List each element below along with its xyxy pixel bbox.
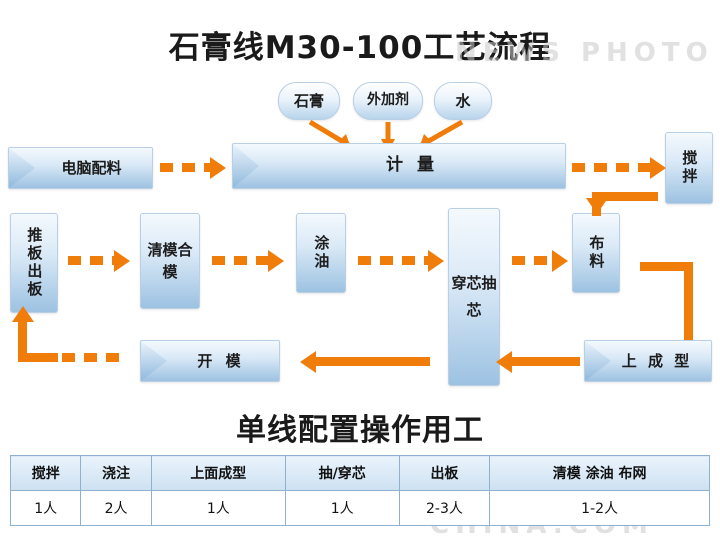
node-metering[interactable]: 计 量: [232, 143, 566, 189]
node-demold-label: 开 模: [197, 352, 244, 371]
node-distribute-label: 布料: [587, 235, 606, 271]
node-distribute[interactable]: 布料: [572, 213, 620, 293]
table-cell: 2-3人: [399, 491, 490, 526]
arrow-head-metering-to-mixing: [650, 157, 666, 179]
diagram-canvas: 石膏线M30-100工艺流程 单线配置操作用工 NEWS PHOTO MADE-…: [0, 0, 720, 540]
node-mixing[interactable]: 搅拌: [665, 132, 713, 204]
node-computer-batching-label: 电脑配料: [61, 159, 121, 178]
arrow-head-forming-to-core: [496, 351, 512, 373]
node-forming[interactable]: 上 成 型: [584, 340, 712, 382]
arrow-demold-left-dash: [62, 353, 124, 362]
banner-nub-icon: [9, 148, 35, 188]
banner-nub-icon-3: [141, 341, 167, 381]
arrow-head-push-to-clean: [114, 250, 130, 272]
arrow-head-demold-up: [12, 306, 34, 322]
node-water[interactable]: 水: [434, 82, 492, 120]
table-cell: 1人: [151, 491, 285, 526]
arrow-demold-elbow: [18, 353, 58, 362]
table-cell: 2人: [81, 491, 151, 526]
node-core-label: 穿芯抽芯: [449, 270, 499, 324]
table-header-row: 搅拌 浇注 上面成型 抽/穿芯 出板 清模 涂油 布网: [11, 456, 710, 491]
table-header-cell: 抽/穿芯: [285, 456, 399, 491]
arrow-metering-to-mixing: [572, 163, 654, 172]
arrow-core-to-demold: [312, 357, 430, 366]
node-oiling-label: 涂油: [312, 235, 331, 271]
page-title: 石膏线M30-100工艺流程: [0, 22, 720, 67]
node-water-label: 水: [455, 92, 470, 111]
table-row: 1人 2人 1人 1人 2-3人 1-2人: [11, 491, 710, 526]
banner-nub-icon-2: [233, 144, 259, 188]
node-gypsum-label: 石膏: [294, 92, 324, 111]
arrow-clean-to-oiling: [212, 256, 270, 265]
node-clean-mold-label: 清模合模: [141, 239, 199, 284]
arrow-forming-to-core: [510, 357, 580, 366]
node-core[interactable]: 穿芯抽芯: [448, 208, 500, 386]
node-forming-label: 上 成 型: [622, 352, 692, 371]
arrow-right-down: [684, 262, 693, 348]
node-demold[interactable]: 开 模: [140, 340, 280, 382]
node-additive-label: 外加剂: [367, 92, 409, 110]
sub-title: 单线配置操作用工: [0, 405, 720, 449]
arrow-head-batching-to-metering: [210, 157, 226, 179]
node-push-plate-out[interactable]: 推板出板: [10, 213, 58, 313]
table-header-cell: 搅拌: [11, 456, 81, 491]
arrow-head-oiling-to-core: [428, 250, 444, 272]
table-header-cell: 清模 涂油 布网: [490, 456, 710, 491]
arrow-push-to-clean: [68, 256, 116, 265]
arrow-head-core-to-distribute: [552, 250, 568, 272]
arrow-oiling-to-core: [358, 256, 430, 265]
arrow-head-mixing-down: [586, 198, 608, 214]
table-cell: 1-2人: [490, 491, 710, 526]
node-oiling[interactable]: 涂油: [296, 213, 346, 293]
table-header-cell: 出板: [399, 456, 490, 491]
table-header-cell: 上面成型: [151, 456, 285, 491]
arrow-head-clean-to-oiling: [268, 250, 284, 272]
node-computer-batching[interactable]: 电脑配料: [8, 147, 153, 189]
node-additive[interactable]: 外加剂: [353, 82, 423, 120]
node-metering-label: 计 量: [386, 155, 438, 176]
table-header-cell: 浇注: [81, 456, 151, 491]
node-clean-mold[interactable]: 清模合模: [140, 213, 200, 309]
banner-nub-icon-4: [585, 341, 611, 381]
table-cell: 1人: [285, 491, 399, 526]
staffing-table: 搅拌 浇注 上面成型 抽/穿芯 出板 清模 涂油 布网 1人 2人 1人 1人 …: [10, 455, 710, 526]
arrow-right-elbow: [640, 262, 693, 271]
node-push-plate-out-label: 推板出板: [25, 227, 44, 299]
arrow-head-core-to-demold: [300, 351, 316, 373]
arrow-batching-to-metering: [160, 163, 212, 172]
table-cell: 1人: [11, 491, 81, 526]
node-gypsum[interactable]: 石膏: [278, 82, 340, 120]
node-mixing-label: 搅拌: [680, 150, 699, 186]
